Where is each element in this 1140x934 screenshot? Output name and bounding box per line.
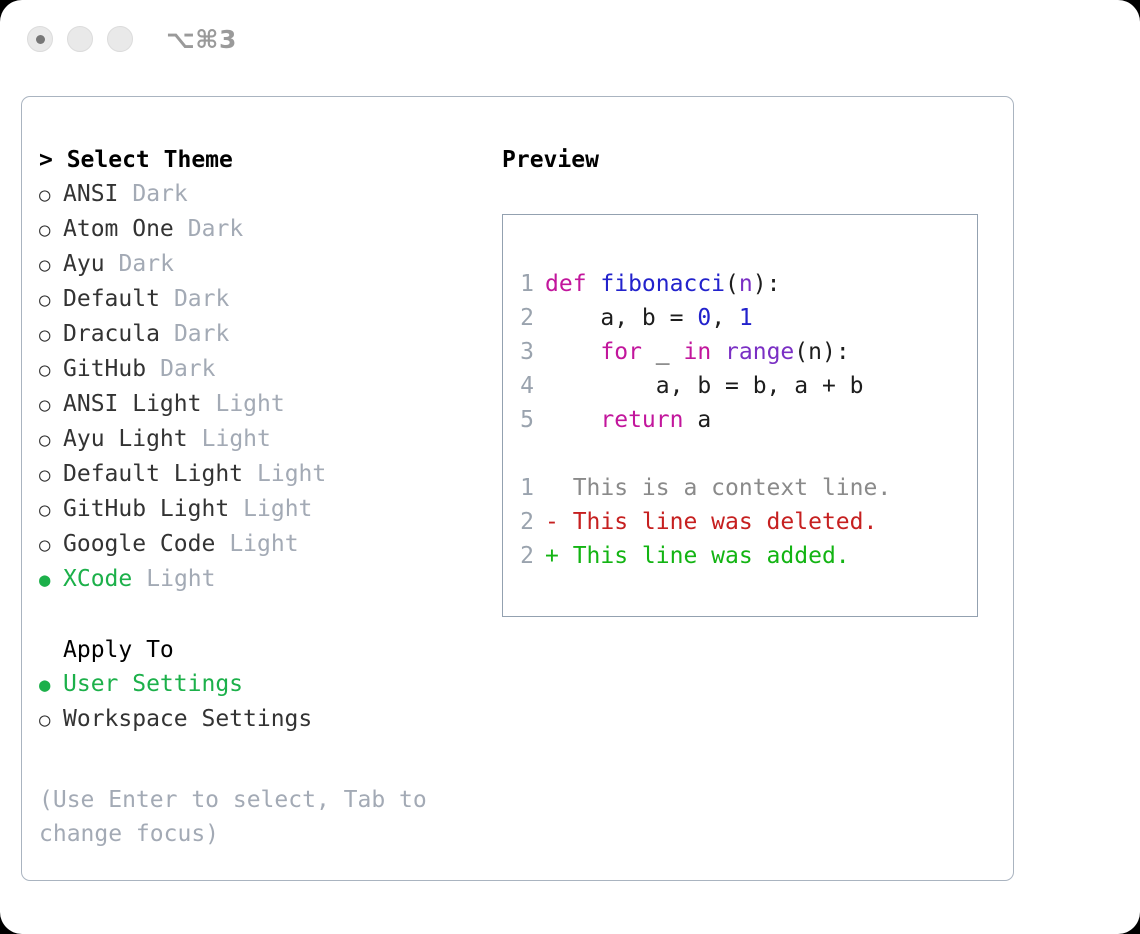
radio-unselected-icon: ○ (39, 528, 63, 562)
diff-line-number: 2 (503, 505, 545, 539)
theme-selector-column: > Select Theme ○ANSIDark○Atom OneDark○Ay… (39, 143, 479, 851)
code-line-number: 4 (503, 369, 545, 403)
select-theme-heading: > Select Theme (39, 143, 479, 177)
radio-unselected-icon: ○ (39, 318, 63, 352)
theme-option-variant-tag: Dark (174, 317, 229, 351)
code-line: 1def fibonacci(n): (503, 267, 977, 301)
theme-option-2[interactable]: ○AyuDark (39, 247, 479, 282)
preview-column: Preview 1def fibonacci(n):2 a, b = 0, 13… (502, 143, 992, 617)
window-minimize-dot[interactable] (67, 26, 93, 52)
radio-unselected-icon: ○ (39, 178, 63, 212)
code-line-content: a, b = 0, 1 (545, 301, 753, 335)
code-snippet: 1def fibonacci(n):2 a, b = 0, 13 for _ i… (503, 267, 977, 437)
theme-option-8[interactable]: ○Default LightLight (39, 457, 479, 492)
code-line-content: return a (545, 403, 711, 437)
theme-option-variant-tag: Light (229, 527, 298, 561)
apply-option-label: User Settings (63, 667, 243, 701)
app-window: ⌥⌘3 > Select Theme ○ANSIDark○Atom OneDar… (0, 0, 1140, 934)
theme-option-label: GitHub (63, 352, 146, 386)
content-panel: > Select Theme ○ANSIDark○Atom OneDark○Ay… (21, 96, 1014, 881)
theme-option-1[interactable]: ○Atom OneDark (39, 212, 479, 247)
diff-line-content: This is a context line. (545, 471, 891, 505)
code-token-kw: for (600, 339, 642, 365)
theme-option-0[interactable]: ○ANSIDark (39, 177, 479, 212)
theme-option-label: ANSI (63, 177, 118, 211)
theme-option-variant-tag: Dark (132, 177, 187, 211)
radio-selected-icon: ● (39, 668, 63, 702)
window-controls (27, 26, 133, 52)
code-line: 5 return a (503, 403, 977, 437)
radio-unselected-icon: ○ (39, 213, 63, 247)
code-token-plain (545, 339, 600, 365)
theme-option-variant-tag: Light (257, 457, 326, 491)
radio-unselected-icon: ○ (39, 248, 63, 282)
diff-snippet: 1 This is a context line.2- This line wa… (503, 471, 977, 573)
apply-to-list: ●User Settings○Workspace Settings (39, 667, 479, 737)
code-token-kw: def (545, 271, 600, 297)
code-token-var: range (725, 339, 794, 365)
apply-to-heading: Apply To (39, 633, 479, 667)
code-line-content: def fibonacci(n): (545, 267, 780, 301)
window-dot-indicator-icon (36, 35, 45, 44)
code-token-pun: (n): (794, 339, 849, 365)
code-token-fn: fibonacci (600, 271, 725, 297)
theme-list: ○ANSIDark○Atom OneDark○AyuDark○DefaultDa… (39, 177, 479, 597)
theme-option-variant-tag: Dark (119, 247, 174, 281)
theme-option-variant-tag: Light (215, 387, 284, 421)
code-token-plain: a (683, 407, 711, 433)
code-token-plain (545, 407, 600, 433)
code-line-content: for _ in range(n): (545, 335, 850, 369)
theme-option-4[interactable]: ○DraculaDark (39, 317, 479, 352)
theme-option-10[interactable]: ○Google CodeLight (39, 527, 479, 562)
theme-option-label: Default Light (63, 457, 243, 491)
code-token-num: 1 (739, 305, 753, 331)
theme-option-label: Dracula (63, 317, 160, 351)
code-line: 4 a, b = b, a + b (503, 369, 977, 403)
keyboard-hint-text: (Use Enter to select, Tab to change focu… (39, 783, 449, 851)
code-line: 3 for _ in range(n): (503, 335, 977, 369)
theme-option-variant-tag: Light (146, 562, 215, 596)
apply-option-label: Workspace Settings (63, 702, 312, 736)
diff-line-content: + This line was added. (545, 539, 850, 573)
diff-line-ctx: 1 This is a context line. (503, 471, 977, 505)
radio-unselected-icon: ○ (39, 458, 63, 492)
theme-option-6[interactable]: ○ANSI LightLight (39, 387, 479, 422)
theme-option-variant-tag: Light (202, 422, 271, 456)
code-line: 2 a, b = 0, 1 (503, 301, 977, 335)
code-token-plain: , (711, 305, 739, 331)
code-token-plain: _ (642, 339, 684, 365)
code-token-num: 0 (697, 305, 711, 331)
theme-option-3[interactable]: ○DefaultDark (39, 282, 479, 317)
preview-heading: Preview (502, 143, 992, 177)
theme-option-5[interactable]: ○GitHubDark (39, 352, 479, 387)
window-close-dot[interactable] (27, 26, 53, 52)
code-token-pun: ): (753, 271, 781, 297)
theme-option-7[interactable]: ○Ayu LightLight (39, 422, 479, 457)
theme-option-label: ANSI Light (63, 387, 201, 421)
code-token-kw: in (683, 339, 711, 365)
theme-option-9[interactable]: ○GitHub LightLight (39, 492, 479, 527)
theme-option-label: Default (63, 282, 160, 316)
radio-unselected-icon: ○ (39, 283, 63, 317)
code-line-number: 5 (503, 403, 545, 437)
code-token-plain: a, b = (545, 305, 697, 331)
code-preview-box: 1def fibonacci(n):2 a, b = 0, 13 for _ i… (502, 214, 978, 617)
theme-option-label: Google Code (63, 527, 215, 561)
diff-line-add: 2+ This line was added. (503, 539, 977, 573)
theme-option-variant-tag: Dark (174, 282, 229, 316)
code-token-pun: ( (725, 271, 739, 297)
diff-line-number: 2 (503, 539, 545, 573)
theme-option-11[interactable]: ●XCodeLight (39, 562, 479, 597)
theme-option-label: Atom One (63, 212, 174, 246)
radio-unselected-icon: ○ (39, 703, 63, 737)
window-maximize-dot[interactable] (107, 26, 133, 52)
diff-line-content: - This line was deleted. (545, 505, 877, 539)
code-line-number: 3 (503, 335, 545, 369)
theme-option-label: Ayu Light (63, 422, 188, 456)
code-spacer (503, 437, 977, 471)
code-token-kw: return (600, 407, 683, 433)
apply-to-section: Apply To ●User Settings○Workspace Settin… (39, 633, 479, 737)
code-line-content: a, b = b, a + b (545, 369, 864, 403)
theme-option-label: GitHub Light (63, 492, 229, 526)
radio-unselected-icon: ○ (39, 388, 63, 422)
radio-unselected-icon: ○ (39, 423, 63, 457)
keyboard-shortcut-label: ⌥⌘3 (166, 25, 237, 54)
code-token-plain: a, b = b, a + b (545, 373, 864, 399)
diff-line-del: 2- This line was deleted. (503, 505, 977, 539)
radio-selected-icon: ● (39, 563, 63, 597)
theme-option-label: XCode (63, 562, 132, 596)
title-bar: ⌥⌘3 (0, 0, 1140, 78)
radio-unselected-icon: ○ (39, 493, 63, 527)
theme-option-label: Ayu (63, 247, 105, 281)
apply-option-1[interactable]: ○Workspace Settings (39, 702, 479, 737)
code-line-number: 1 (503, 267, 545, 301)
apply-option-0[interactable]: ●User Settings (39, 667, 479, 702)
code-token-plain (711, 339, 725, 365)
code-line-number: 2 (503, 301, 545, 335)
theme-option-variant-tag: Dark (160, 352, 215, 386)
theme-option-variant-tag: Dark (188, 212, 243, 246)
diff-line-number: 1 (503, 471, 545, 505)
code-token-var: n (739, 271, 753, 297)
theme-option-variant-tag: Light (243, 492, 312, 526)
radio-unselected-icon: ○ (39, 353, 63, 387)
